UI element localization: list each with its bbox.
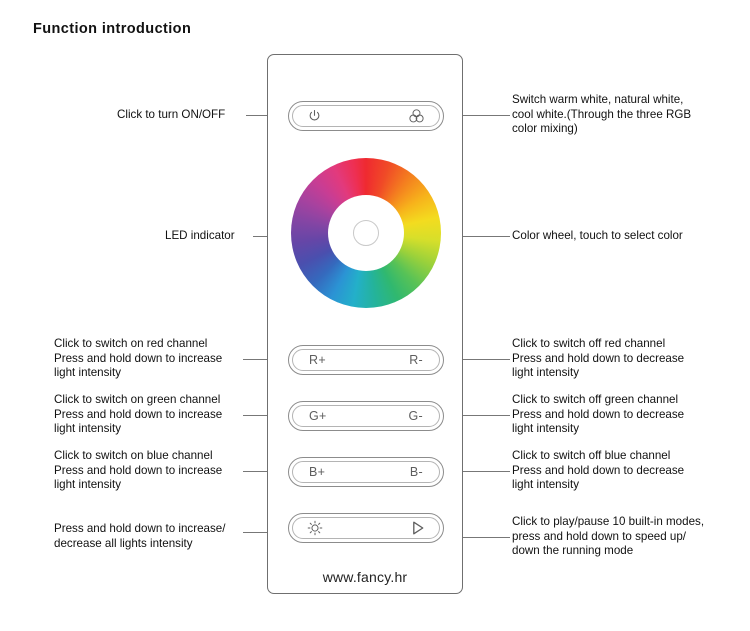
callout-mode-play: Click to play/pause 10 built-in modes, p… (512, 515, 704, 559)
green-down-label[interactable]: G- (409, 410, 424, 423)
callout-mode-intensity: Press and hold down to increase/ decreas… (54, 522, 225, 551)
callout-green-on: Click to switch on green channel Press a… (54, 393, 222, 437)
mode-key[interactable] (288, 513, 444, 543)
callout-green-off: Click to switch off green channel Press … (512, 393, 684, 437)
controller-panel: R+ R- G+ G- B+ B- (267, 54, 463, 594)
power-key[interactable] (288, 101, 444, 131)
callout-red-off: Click to switch off red channel Press an… (512, 337, 684, 381)
callout-power-onoff: Click to turn ON/OFF (117, 108, 225, 123)
green-up-label[interactable]: G+ (309, 410, 327, 423)
color-wheel[interactable] (291, 158, 441, 308)
blue-up-label[interactable]: B+ (309, 466, 325, 479)
color-mixing-icon[interactable] (408, 109, 425, 124)
red-channel-key[interactable]: R+ R- (288, 345, 444, 375)
play-icon[interactable] (411, 520, 425, 536)
callout-color-wheel: Color wheel, touch to select color (512, 229, 683, 244)
callout-led-indicator: LED indicator (165, 229, 235, 244)
brightness-sun-icon[interactable] (307, 520, 323, 536)
green-channel-key[interactable]: G+ G- (288, 401, 444, 431)
blue-down-label[interactable]: B- (410, 466, 423, 479)
watermark: www.fancy.hr (268, 569, 462, 585)
power-icon[interactable] (307, 109, 322, 124)
blue-channel-key[interactable]: B+ B- (288, 457, 444, 487)
function-introduction-diagram: Function introduction (0, 0, 750, 631)
red-up-label[interactable]: R+ (309, 354, 326, 367)
callout-white-switch: Switch warm white, natural white, cool w… (512, 93, 691, 137)
led-indicator (353, 220, 379, 246)
red-down-label[interactable]: R- (409, 354, 423, 367)
page-title: Function introduction (33, 21, 191, 37)
callout-blue-off: Click to switch off blue channel Press a… (512, 449, 684, 493)
callout-blue-on: Click to switch on blue channel Press an… (54, 449, 222, 493)
callout-red-on: Click to switch on red channel Press and… (54, 337, 222, 381)
